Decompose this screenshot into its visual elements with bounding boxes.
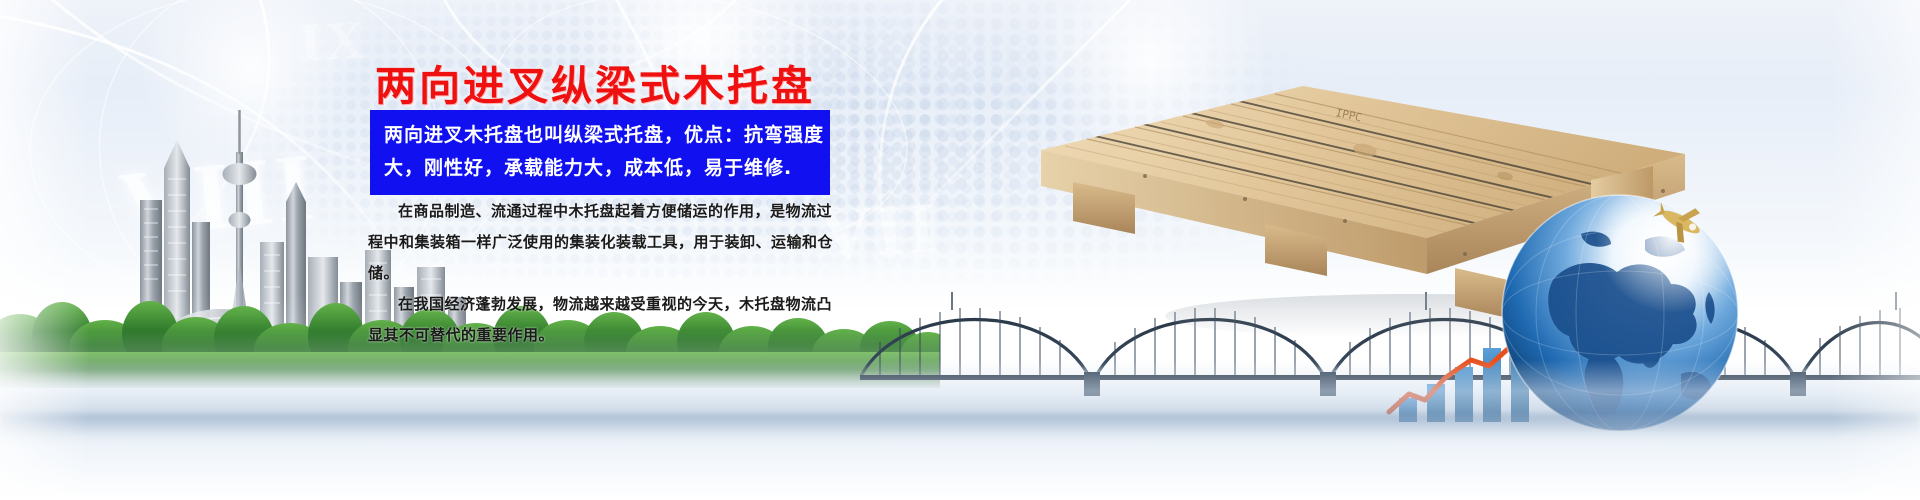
banner-title: 两向进叉纵梁式木托盘: [375, 52, 815, 112]
body-paragraph-2: 在我国经济蓬勃发展，物流越来越受重视的今天，木托盘物流凸显其不可替代的重要作用。: [368, 289, 846, 351]
water-streak: [0, 414, 1920, 436]
highlight-callout-box: 两向进叉木托盘也叫纵梁式托盘，优点：抗弯强度 大，刚性好，承载能力大，成本低，易…: [370, 110, 830, 195]
highlight-line-1: 两向进叉木托盘也叫纵梁式托盘，优点：抗弯强度: [384, 119, 818, 152]
body-copy: 在商品制造、流通过程中木托盘起着方便储运的作用，是物流过程中和集装箱一样广泛使用…: [368, 196, 846, 351]
product-banner: VIII VII IX XII: [0, 0, 1920, 500]
roman-numeral-watermark-3: IX: [298, 8, 369, 73]
highlight-line-2: 大，刚性好，承载能力大，成本低，易于维修.: [384, 152, 818, 185]
body-paragraph-1: 在商品制造、流通过程中木托盘起着方便储运的作用，是物流过程中和集装箱一样广泛使用…: [368, 196, 846, 289]
